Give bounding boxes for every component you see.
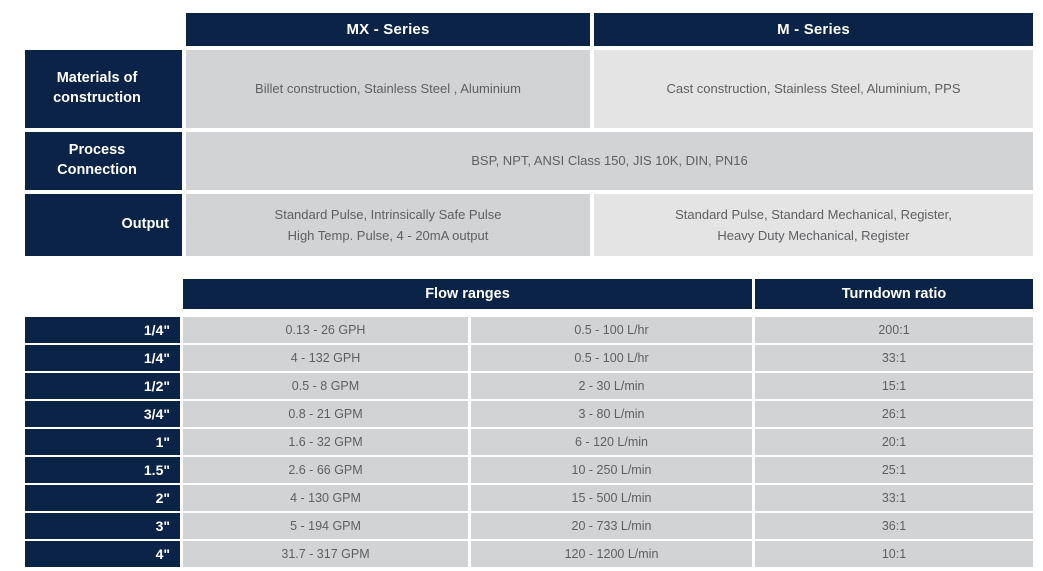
- row-header-size-2-text: 1/2": [144, 378, 170, 394]
- row-header-size-8-text: 4": [156, 546, 170, 562]
- cell-metric-flow-0-text: 0.5 - 100 L/hr: [574, 323, 648, 337]
- cell-turndown-7: 36:1: [755, 513, 1033, 539]
- row-header-size-5-text: 1.5": [144, 462, 170, 478]
- row-header-materials-line1: Materials of: [57, 69, 138, 89]
- cell-metric-flow-2: 2 - 30 L/min: [471, 373, 752, 399]
- cell-metric-flow-8: 120 - 1200 L/min: [471, 541, 752, 567]
- cell-turndown-2-text: 15:1: [882, 379, 906, 393]
- cell-metric-flow-3-text: 3 - 80 L/min: [578, 407, 644, 421]
- cell-imperial-flow-7: 5 - 194 GPM: [183, 513, 468, 539]
- cell-imperial-flow-3-text: 0.8 - 21 GPM: [288, 407, 362, 421]
- cell-metric-flow-4: 6 - 120 L/min: [471, 429, 752, 455]
- cell-output-m: Standard Pulse, Standard Mechanical, Reg…: [594, 194, 1033, 256]
- cell-turndown-0: 200:1: [755, 317, 1033, 343]
- cell-imperial-flow-1: 4 - 132 GPH: [183, 345, 468, 371]
- cell-imperial-flow-0: 0.13 - 26 GPH: [183, 317, 468, 343]
- row-header-materials-line2: construction: [53, 89, 141, 109]
- cell-turndown-3: 26:1: [755, 401, 1033, 427]
- cell-process-connection-all-series: BSP, NPT, ANSI Class 150, JIS 10K, DIN, …: [186, 132, 1033, 190]
- cell-imperial-flow-8-text: 31.7 - 317 GPM: [281, 547, 369, 561]
- row-header-size-1-text: 1/4": [144, 350, 170, 366]
- cell-turndown-7-text: 36:1: [882, 519, 906, 533]
- column-header-turndown-ratio-label: Turndown ratio: [842, 286, 946, 302]
- cell-imperial-flow-7-text: 5 - 194 GPM: [290, 519, 361, 533]
- row-header-size-5: 1.5": [25, 457, 180, 483]
- cell-turndown-1-text: 33:1: [882, 351, 906, 365]
- cell-turndown-5: 25:1: [755, 457, 1033, 483]
- cell-metric-flow-1: 0.5 - 100 L/hr: [471, 345, 752, 371]
- cell-output-m-line2: Heavy Duty Mechanical, Register: [717, 225, 909, 246]
- cell-turndown-1: 33:1: [755, 345, 1033, 371]
- row-header-size-2: 1/2": [25, 373, 180, 399]
- row-header-size-3-text: 3/4": [144, 406, 170, 422]
- cell-turndown-5-text: 25:1: [882, 463, 906, 477]
- cell-turndown-4-text: 20:1: [882, 435, 906, 449]
- row-header-size-0-text: 1/4": [144, 322, 170, 338]
- row-header-process-connection: Process Connection: [25, 132, 182, 190]
- cell-imperial-flow-1-text: 4 - 132 GPH: [291, 351, 360, 365]
- flow-ranges-table: Flow ranges Turndown ratio 1/4"0.13 - 26…: [0, 262, 1043, 571]
- row-header-size-7: 3": [25, 513, 180, 539]
- row-header-size-7-text: 3": [156, 518, 170, 534]
- cell-materials-mx-text: Billet construction, Stainless Steel , A…: [255, 78, 521, 99]
- cell-metric-flow-4-text: 6 - 120 L/min: [575, 435, 648, 449]
- column-header-flow-ranges: Flow ranges: [183, 279, 752, 309]
- cell-metric-flow-6-text: 15 - 500 L/min: [572, 491, 652, 505]
- cell-process-connection-text: BSP, NPT, ANSI Class 150, JIS 10K, DIN, …: [471, 150, 748, 171]
- cell-turndown-4: 20:1: [755, 429, 1033, 455]
- cell-metric-flow-6: 15 - 500 L/min: [471, 485, 752, 511]
- cell-materials-mx: Billet construction, Stainless Steel , A…: [186, 50, 590, 128]
- cell-imperial-flow-0-text: 0.13 - 26 GPH: [286, 323, 366, 337]
- cell-turndown-8-text: 10:1: [882, 547, 906, 561]
- row-header-output: Output: [25, 194, 182, 256]
- row-header-size-3: 3/4": [25, 401, 180, 427]
- cell-turndown-0-text: 200:1: [878, 323, 909, 337]
- cell-turndown-6-text: 33:1: [882, 491, 906, 505]
- row-header-process-line1: Process: [69, 141, 125, 161]
- cell-imperial-flow-8: 31.7 - 317 GPM: [183, 541, 468, 567]
- column-header-m-series-label: M - Series: [777, 21, 850, 38]
- row-header-size-4: 1": [25, 429, 180, 455]
- cell-metric-flow-5-text: 10 - 250 L/min: [572, 463, 652, 477]
- cell-materials-m-text: Cast construction, Stainless Steel, Alum…: [666, 78, 960, 99]
- cell-imperial-flow-2: 0.5 - 8 GPM: [183, 373, 468, 399]
- cell-output-mx-line1: Standard Pulse, Intrinsically Safe Pulse: [275, 204, 502, 225]
- cell-imperial-flow-4-text: 1.6 - 32 GPM: [288, 435, 362, 449]
- cell-metric-flow-3: 3 - 80 L/min: [471, 401, 752, 427]
- cell-metric-flow-7-text: 20 - 733 L/min: [572, 519, 652, 533]
- row-header-output-label: Output: [121, 215, 169, 235]
- cell-metric-flow-5: 10 - 250 L/min: [471, 457, 752, 483]
- cell-metric-flow-8-text: 120 - 1200 L/min: [565, 547, 659, 561]
- series-specification-table: MX - Series M - Series Materials of cons…: [0, 0, 1043, 262]
- cell-output-m-line1: Standard Pulse, Standard Mechanical, Reg…: [675, 204, 952, 225]
- row-header-size-6: 2": [25, 485, 180, 511]
- cell-turndown-8: 10:1: [755, 541, 1033, 567]
- cell-imperial-flow-3: 0.8 - 21 GPM: [183, 401, 468, 427]
- cell-imperial-flow-6-text: 4 - 130 GPM: [290, 491, 361, 505]
- cell-output-mx-line2: High Temp. Pulse, 4 - 20mA output: [288, 225, 489, 246]
- column-header-mx-series-label: MX - Series: [346, 21, 429, 38]
- column-header-flow-ranges-label: Flow ranges: [425, 286, 510, 302]
- cell-turndown-2: 15:1: [755, 373, 1033, 399]
- column-header-turndown-ratio: Turndown ratio: [755, 279, 1033, 309]
- cell-materials-m: Cast construction, Stainless Steel, Alum…: [594, 50, 1033, 128]
- cell-imperial-flow-5-text: 2.6 - 66 GPM: [288, 463, 362, 477]
- row-header-size-6-text: 2": [156, 490, 170, 506]
- cell-output-mx: Standard Pulse, Intrinsically Safe Pulse…: [186, 194, 590, 256]
- cell-metric-flow-1-text: 0.5 - 100 L/hr: [574, 351, 648, 365]
- column-header-m-series: M - Series: [594, 13, 1033, 46]
- row-header-size-1: 1/4": [25, 345, 180, 371]
- row-header-size-4-text: 1": [156, 434, 170, 450]
- row-header-size-8: 4": [25, 541, 180, 567]
- cell-turndown-6: 33:1: [755, 485, 1033, 511]
- row-header-size-0: 1/4": [25, 317, 180, 343]
- cell-imperial-flow-4: 1.6 - 32 GPM: [183, 429, 468, 455]
- cell-metric-flow-0: 0.5 - 100 L/hr: [471, 317, 752, 343]
- row-header-process-line2: Connection: [57, 161, 137, 181]
- cell-metric-flow-7: 20 - 733 L/min: [471, 513, 752, 539]
- specification-sheet: MX - Series M - Series Materials of cons…: [0, 0, 1043, 571]
- cell-metric-flow-2-text: 2 - 30 L/min: [578, 379, 644, 393]
- cell-turndown-3-text: 26:1: [882, 407, 906, 421]
- column-header-mx-series: MX - Series: [186, 13, 590, 46]
- cell-imperial-flow-5: 2.6 - 66 GPM: [183, 457, 468, 483]
- cell-imperial-flow-2-text: 0.5 - 8 GPM: [292, 379, 359, 393]
- cell-imperial-flow-6: 4 - 130 GPM: [183, 485, 468, 511]
- row-header-materials-of-construction: Materials of construction: [25, 50, 182, 128]
